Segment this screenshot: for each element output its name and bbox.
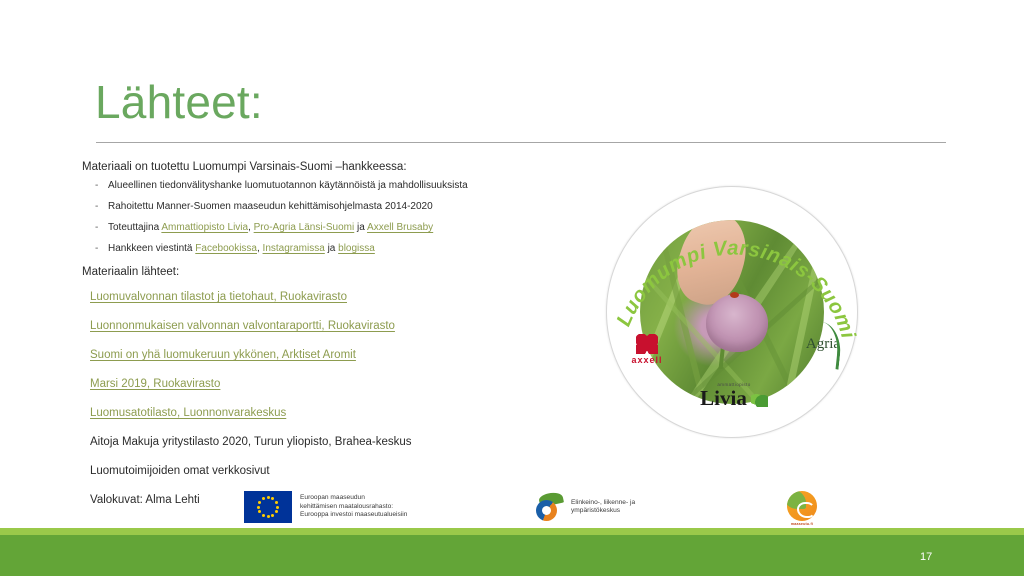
title-divider [96,142,946,143]
project-badge-logo: Luomumpi Varsinais-Suomi axxell Agria am… [606,186,858,438]
bullet-link[interactable]: Instagramissa [263,243,325,254]
page-title: Lähteet: [95,74,263,130]
bullet-text: ja [354,222,367,233]
maaseutu-mark-icon [787,491,817,521]
eu-star-icon [271,497,274,500]
page-number: 17 [920,551,932,563]
slide-body: Materiaali on tuotettu Luomumpi Varsinai… [82,160,582,522]
livia-label: Livia [700,388,747,409]
eu-funding-logo: Euroopan maaseudun kehittämisen maatalou… [244,491,407,523]
agria-sublogo: Agria [792,336,854,353]
eu-star-icon [257,506,260,509]
eu-flag-icon [244,491,292,523]
eu-star-icon [262,514,265,517]
eu-line-2: kehittämisen maatalousrahasto: [300,503,407,512]
bullet-item: -Toteuttajina Ammattiopisto Livia, Pro-A… [82,221,582,234]
axxell-label: axxell [618,355,676,365]
source-item: Luomusatotilasto, Luonnonvarakeskus [82,406,582,421]
source-link-list: Luomuvalvonnan tilastot ja tietohaut, Ru… [82,290,582,508]
maaseutu-logo: maaseutu.fi [775,491,829,526]
bullet-item: -Rahoitettu Manner-Suomen maaseudun kehi… [82,200,582,213]
ely-mark-icon [534,493,564,521]
bullet-marker: - [95,221,98,234]
eu-star-icon [262,497,265,500]
sources-heading: Materiaalin lähteet: [82,265,582,280]
bullet-link[interactable]: Ammattiopisto Livia [161,222,248,233]
eu-star-icon [275,501,278,504]
bullet-item: -Alueellinen tiedonvälityshanke luomutuo… [82,179,582,192]
project-bullet-list: -Alueellinen tiedonvälityshanke luomutuo… [82,179,582,255]
bullet-link[interactable]: blogissa [338,243,375,254]
bullet-item: -Hankkeen viestintä Facebookissa, Instag… [82,242,582,255]
eu-line-1: Euroopan maaseudun [300,494,407,503]
bullet-marker: - [95,200,98,213]
source-link[interactable]: Luomuvalvonnan tilastot ja tietohaut, Ru… [90,291,347,303]
eu-star-icon [275,510,278,513]
eu-star-icon [258,510,261,513]
source-link[interactable]: Suomi on yhä luomukeruun ykkönen, Arktis… [90,349,356,361]
ely-keskus-logo: Elinkeino-, liikenne- ja ympäristökeskus [534,493,635,521]
ely-text: Elinkeino-, liikenne- ja ympäristökeskus [571,499,635,516]
leaf-icon [751,391,768,407]
axxell-mark-icon [636,334,658,354]
maaseutu-label: maaseutu.fi [775,522,829,526]
axxell-sublogo: axxell [618,334,676,365]
source-text: Aitoja Makuja yritystilasto 2020, Turun … [90,436,412,448]
eu-line-3: Eurooppa investoi maaseutualueisiin [300,511,407,520]
eu-star-icon [271,514,274,517]
source-item: Luomuvalvonnan tilastot ja tietohaut, Ru… [82,290,582,305]
bullet-text: Toteuttajina [108,222,161,233]
eu-star-icon [267,496,270,499]
source-item: Luomutoimijoiden omat verkkosivut [82,464,582,479]
bullet-link[interactable]: Facebookissa [195,243,257,254]
bullet-text: Hankkeen viestintä [108,243,195,254]
ely-line-1: Elinkeino-, liikenne- ja [571,499,635,507]
footer-accent-bar [0,528,1024,535]
bullet-text: Rahoitettu Manner-Suomen maaseudun kehit… [108,201,433,212]
bullet-link[interactable]: Pro-Agria Länsi-Suomi [254,222,355,233]
eu-star-icon [258,501,261,504]
bullet-marker: - [95,242,98,255]
ely-line-2: ympäristökeskus [571,507,635,515]
footer-bar [0,535,1024,576]
source-link[interactable]: Luonnonmukaisen valvonnan valvontaraport… [90,320,395,332]
eu-star-icon [276,506,279,509]
intro-line: Materiaali on tuotettu Luomumpi Varsinai… [82,160,582,175]
source-item: Luonnonmukaisen valvonnan valvontaraport… [82,319,582,334]
source-item: Aitoja Makuja yritystilasto 2020, Turun … [82,435,582,450]
bullet-text: Alueellinen tiedonvälityshanke luomutuot… [108,180,468,191]
eu-star-icon [267,515,270,518]
source-item: Suomi on yhä luomukeruun ykkönen, Arktis… [82,348,582,363]
bullet-marker: - [95,179,98,192]
source-item: Marsi 2019, Ruokavirasto [82,377,582,392]
eu-funding-text: Euroopan maaseudun kehittämisen maatalou… [300,494,407,520]
source-text: Valokuvat: Alma Lehti [90,494,200,506]
bullet-link[interactable]: Axxell Brusaby [367,222,433,233]
source-text: Luomutoimijoiden omat verkkosivut [90,465,270,477]
livia-sublogo: ammattiopisto Livia [682,382,786,409]
bullet-text: ja [325,243,338,254]
source-link[interactable]: Luomusatotilasto, Luonnonvarakeskus [90,407,286,419]
presentation-slide: Lähteet: Materiaali on tuotettu Luomumpi… [0,0,1024,576]
source-link[interactable]: Marsi 2019, Ruokavirasto [90,378,220,390]
